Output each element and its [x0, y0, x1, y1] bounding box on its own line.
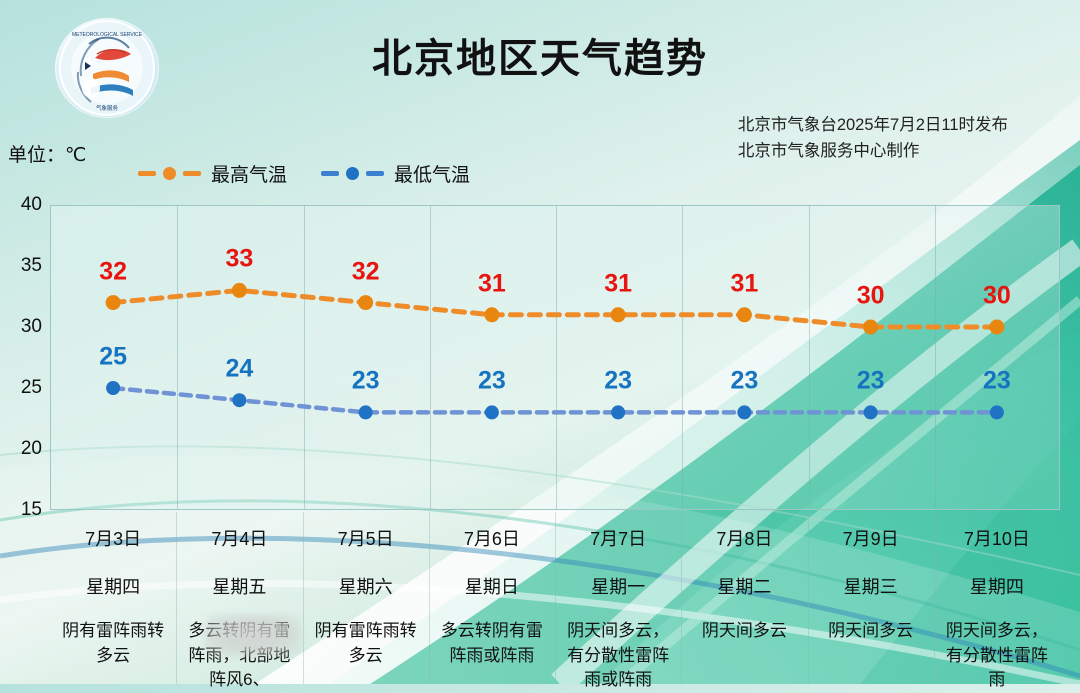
chart-marker[interactable]	[611, 307, 626, 322]
chart-marker[interactable]	[232, 283, 247, 298]
y-axis-tick: 25	[21, 377, 42, 399]
high-temp-value: 31	[478, 269, 506, 298]
page-title: 北京地区天气趋势	[0, 26, 1080, 84]
chart-marker[interactable]	[484, 307, 499, 322]
low-temp-value: 23	[478, 367, 506, 396]
weather-description: 多云转阴有雷阵雨，北部地阵风6、	[176, 619, 302, 693]
legend-label-high: 最高气温	[211, 160, 287, 187]
y-axis-tick: 15	[21, 499, 42, 521]
weather-description: 多云转阴有雷阵雨或阵雨	[429, 619, 555, 668]
chart-marker[interactable]	[990, 405, 1004, 419]
weather-description: 阴天间多云	[681, 619, 807, 644]
high-temp-value: 30	[857, 282, 885, 311]
x-axis-columns: 7月3日星期四阴有雷阵雨转多云7月4日星期五多云转阴有雷阵雨，北部地阵风6、7月…	[50, 512, 1060, 684]
weather-description: 阴天间多云，有分散性雷阵雨或阵雨	[555, 619, 681, 693]
high-temp-value: 30	[983, 282, 1011, 311]
weekday-label: 星期一	[555, 573, 681, 599]
y-axis: 403530252015	[0, 205, 46, 510]
day-column[interactable]: 7月8日星期二阴天间多云	[681, 512, 807, 644]
chart-marker[interactable]	[737, 307, 752, 322]
date-label: 7月3日	[50, 525, 176, 551]
weekday-label: 星期五	[176, 573, 302, 599]
date-label: 7月6日	[429, 525, 555, 551]
chart-legend: 最高气温 最低气温	[138, 160, 470, 187]
date-label: 7月5日	[303, 525, 429, 551]
weather-description: 阴天间多云，有分散性雷阵雨	[934, 619, 1060, 693]
low-temp-value: 23	[983, 367, 1011, 396]
high-temp-value: 32	[99, 257, 127, 286]
high-temp-value: 32	[352, 257, 380, 286]
date-label: 7月8日	[681, 525, 807, 551]
date-label: 7月9日	[808, 525, 934, 551]
legend-item-high[interactable]: 最高气温	[138, 160, 287, 187]
chart-marker[interactable]	[232, 393, 246, 407]
weekday-label: 星期日	[429, 573, 555, 599]
weekday-label: 星期六	[303, 573, 429, 599]
weekday-label: 星期四	[934, 573, 1060, 599]
high-temp-value: 31	[730, 269, 758, 298]
publish-line-2: 北京市气象服务中心制作	[738, 138, 1008, 164]
day-column[interactable]: 7月6日星期日多云转阴有雷阵雨或阵雨	[429, 512, 555, 668]
low-temp-value: 23	[730, 367, 758, 396]
chart-marker[interactable]	[989, 320, 1004, 335]
weekday-label: 星期四	[50, 573, 176, 599]
weather-description: 阴天间多云	[808, 619, 934, 644]
day-column[interactable]: 7月5日星期六阴有雷阵雨转多云	[303, 512, 429, 668]
low-temp-value: 23	[604, 367, 632, 396]
publish-line-1: 北京市气象台2025年7月2日11时发布	[738, 112, 1008, 138]
day-column[interactable]: 7月10日星期四阴天间多云，有分散性雷阵雨	[934, 512, 1060, 693]
legend-item-low[interactable]: 最低气温	[321, 160, 470, 187]
chart-marker[interactable]	[864, 405, 878, 419]
day-column[interactable]: 7月3日星期四阴有雷阵雨转多云	[50, 512, 176, 668]
chart-marker[interactable]	[106, 295, 121, 310]
legend-dash-low	[321, 171, 339, 176]
weekday-label: 星期三	[808, 573, 934, 599]
legend-dash-low-2	[366, 171, 384, 176]
day-column[interactable]: 7月4日星期五多云转阴有雷阵雨，北部地阵风6、	[176, 512, 302, 693]
y-axis-tick: 30	[21, 316, 42, 338]
y-axis-tick: 40	[21, 194, 42, 216]
legend-dash-high	[138, 171, 156, 176]
chart-series-layer: 32333231313130302524232323232323	[50, 205, 1060, 510]
chart-series-svg	[50, 205, 1060, 510]
date-label: 7月4日	[176, 525, 302, 551]
chart-marker[interactable]	[737, 405, 751, 419]
low-temp-value: 23	[857, 367, 885, 396]
y-axis-tick: 20	[21, 438, 42, 460]
chart-marker[interactable]	[611, 405, 625, 419]
publish-info: 北京市气象台2025年7月2日11时发布 北京市气象服务中心制作	[738, 112, 1008, 165]
legend-dot-high	[163, 167, 176, 180]
legend-dash-high-2	[183, 171, 201, 176]
day-column[interactable]: 7月9日星期三阴天间多云	[808, 512, 934, 644]
chart-marker[interactable]	[106, 381, 120, 395]
weather-description: 阴有雷阵雨转多云	[303, 619, 429, 668]
chart-marker[interactable]	[485, 405, 499, 419]
day-column[interactable]: 7月7日星期一阴天间多云，有分散性雷阵雨或阵雨	[555, 512, 681, 693]
date-label: 7月10日	[934, 525, 1060, 551]
chart-marker[interactable]	[359, 405, 373, 419]
legend-label-low: 最低气温	[394, 160, 470, 187]
svg-text:气象服务: 气象服务	[96, 104, 119, 112]
y-axis-tick: 35	[21, 255, 42, 277]
weekday-label: 星期二	[681, 573, 807, 599]
low-temp-value: 24	[225, 355, 253, 384]
high-temp-value: 31	[604, 269, 632, 298]
legend-dot-low	[346, 167, 359, 180]
chart-marker[interactable]	[358, 295, 373, 310]
low-temp-value: 23	[352, 367, 380, 396]
date-label: 7月7日	[555, 525, 681, 551]
chart-marker[interactable]	[863, 320, 878, 335]
unit-label: 单位：℃	[8, 140, 86, 167]
high-temp-value: 33	[225, 245, 253, 274]
low-temp-value: 25	[99, 343, 127, 372]
weather-description: 阴有雷阵雨转多云	[50, 619, 176, 668]
